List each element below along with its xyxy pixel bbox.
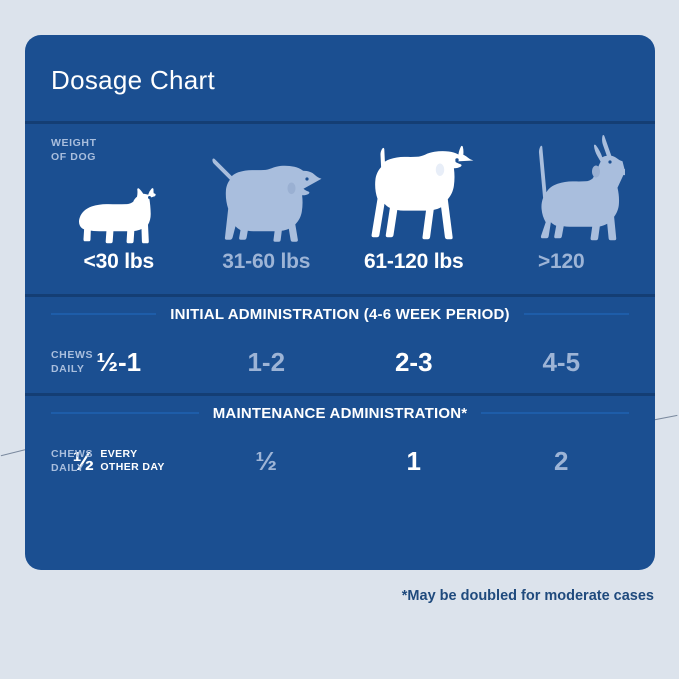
heading-rule-left-2 [51,412,199,414]
footnote: *May be doubled for moderate cases [402,588,654,604]
heading-rule-left [51,313,156,315]
initial-administration-heading: INITIAL ADMINISTRATION (4-6 WEEK PERIOD) [25,297,655,331]
maintenance-administration-title: MAINTENANCE ADMINISTRATION* [213,405,468,422]
weight-label-1: <30 lbs [45,250,193,274]
dog-cell-2 [193,158,341,244]
maintenance-administration-row: CHEWS DAILY ½ EVERY OTHER DAY ½ 1 2 [25,430,655,492]
dog-cell-3 [340,158,488,244]
page-title: Dosage Chart [25,35,655,96]
weight-of-dog-label: WEIGHT OF DOG [51,136,97,164]
maintenance-value-2: ½ [193,448,341,474]
maintenance-value-4: 2 [488,448,636,474]
great-dane-dog-icon [497,131,625,244]
dog-cell-4 [488,158,636,244]
initial-value-3: 2-3 [340,349,488,375]
maintenance-value-3: 1 [340,448,488,474]
initial-chews-daily-label: CHEWS DAILY [51,348,93,376]
weight-label-4: >120 [488,250,636,274]
dosage-chart-panel: Dosage Chart WEIGHT OF DOG [25,35,655,570]
maintenance-chews-daily-label: CHEWS DAILY [51,447,93,475]
maintenance-administration-heading: MAINTENANCE ADMINISTRATION* [25,396,655,430]
labrador-dog-icon [208,156,324,244]
initial-administration-row: CHEWS DAILY ½-1 1-2 2-3 4-5 [25,331,655,393]
weight-labels-row: <30 lbs 31-60 lbs 61-120 lbs >120 [25,244,655,294]
heading-rule-right [524,313,629,315]
dog-silhouette-row [25,136,655,244]
initial-value-2: 1-2 [193,349,341,375]
initial-administration-title: INITIAL ADMINISTRATION (4-6 WEEK PERIOD) [170,306,509,323]
initial-value-4: 4-5 [488,349,636,375]
maintenance-value-1-note: EVERY OTHER DAY [100,448,164,474]
pointer-dog-icon [352,144,476,244]
corgi-dog-icon [71,182,167,244]
weight-label-3: 61-120 lbs [340,250,488,274]
weight-label-2: 31-60 lbs [193,250,341,274]
dog-cell-1 [45,158,193,244]
heading-rule-right-2 [481,412,629,414]
weight-of-dog-section: WEIGHT OF DOG [25,124,655,294]
